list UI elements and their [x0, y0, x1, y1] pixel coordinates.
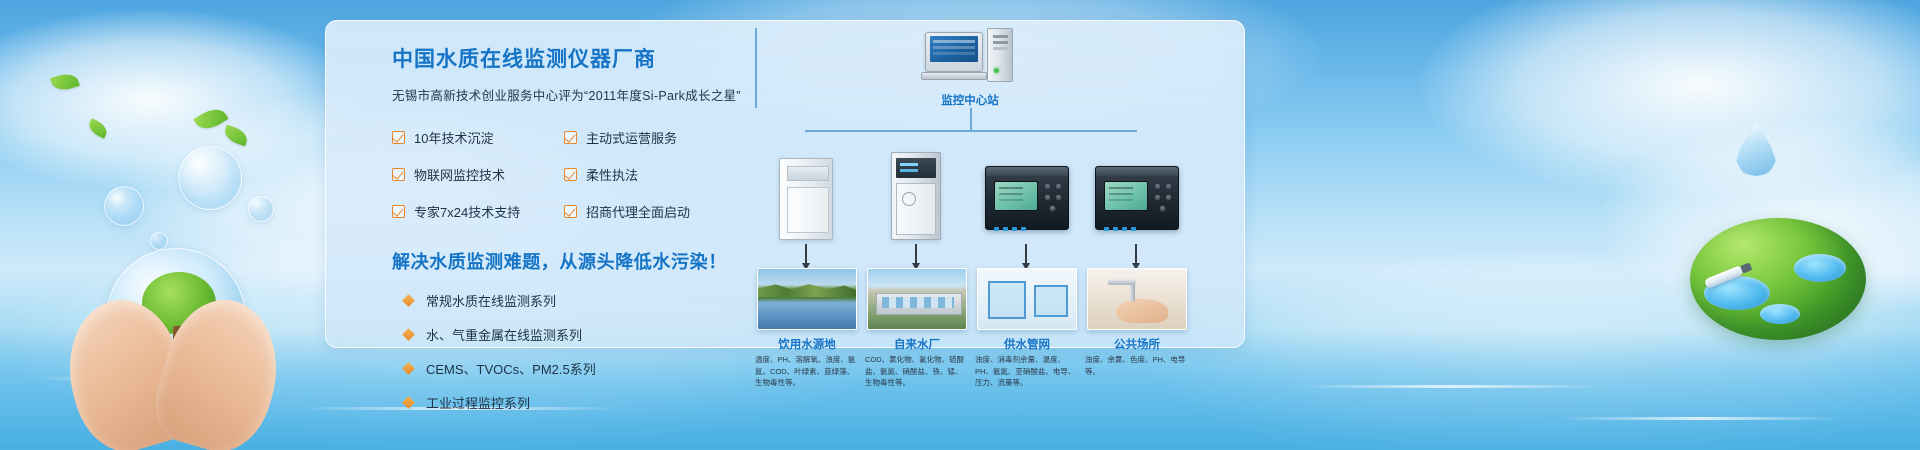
- flow-arrow-icon: [915, 244, 917, 264]
- controller-top-bar: [1096, 167, 1178, 176]
- node-title: 自来水厂: [865, 336, 969, 352]
- checkmark-icon: [564, 168, 577, 181]
- monitoring-center-computer-icon: [925, 28, 1017, 90]
- bubble-decoration: [248, 196, 274, 222]
- scene-photo-public-places: [1087, 268, 1187, 330]
- flow-arrow-icon: [1135, 244, 1137, 264]
- feature-label: 10年技术沉淀: [414, 128, 493, 147]
- connector-bus: [805, 130, 1137, 132]
- product-series-label: 工业过程监控系列: [426, 393, 530, 412]
- checkmark-icon: [392, 168, 405, 181]
- diamond-bullet-icon: [402, 362, 415, 375]
- diamond-bullet-icon: [402, 328, 415, 341]
- earth-lake: [1794, 254, 1846, 282]
- product-series-label: 水、气重金属在线监测系列: [426, 325, 582, 344]
- rack-display: [896, 158, 936, 178]
- device-illustration: [865, 150, 969, 240]
- feature-label: 专家7x24技术支持: [414, 202, 520, 221]
- analyzer-cabinet-icon: [779, 158, 833, 240]
- checkmark-icon: [392, 205, 405, 218]
- feature-item: 主动式运营服务: [564, 128, 772, 147]
- feature-label: 招商代理全面启动: [586, 202, 690, 221]
- diagram-node: 自来水厂 COD、氯化物、氟化物、硫酸盐、氨氮、硝酸盐、铁、锰、生物毒性等。: [865, 150, 969, 240]
- monitor-screen: [930, 36, 978, 62]
- product-series-item: 常规水质在线监测系列: [392, 291, 772, 310]
- product-series-item: CEMS、TVOCs、PM2.5系列: [392, 359, 772, 378]
- diagram-node: 饮用水源地 温度、PH、溶解氧、浊度、氨氮、COD、叶绿素、蓝绿藻、生物毒性等。: [755, 150, 859, 240]
- water-droplet-icon: [1736, 122, 1776, 176]
- center-station-label: 监控中心站: [885, 92, 1055, 108]
- scene-photo-supply-network: [977, 268, 1077, 330]
- water-monitoring-banner: 中国水质在线监测仪器厂商 无锡市高新技术创业服务中心评为“2011年度Si-Pa…: [0, 0, 1920, 450]
- node-title: 公共场所: [1085, 336, 1189, 352]
- system-architecture-diagram: 监控中心站 饮用水源地 温度、PH、溶解氧、浊度、氨氮、COD、叶绿素、蓝绿藻、…: [755, 28, 1185, 418]
- checkmark-icon: [392, 131, 405, 144]
- bubble-decoration: [150, 232, 168, 250]
- page-subtitle: 无锡市高新技术创业服务中心评为“2011年度Si-Park成长之星”: [392, 85, 772, 104]
- checkmark-icon: [564, 205, 577, 218]
- page-title: 中国水质在线监测仪器厂商: [392, 47, 772, 72]
- hand-washing-illustration: [1116, 299, 1168, 323]
- product-series-label: 常规水质在线监测系列: [426, 291, 556, 310]
- feature-item: 招商代理全面启动: [564, 202, 772, 221]
- power-led-indicator: [994, 68, 999, 73]
- controller-led-strip: [994, 218, 1038, 222]
- leaf-icon: [222, 125, 249, 147]
- bubble-decoration: [104, 186, 144, 226]
- feature-item: 物联网监控技术: [392, 165, 564, 184]
- bubble-decoration: [178, 146, 242, 210]
- diamond-bullet-icon: [402, 294, 415, 307]
- node-description: COD、氯化物、氟化物、硫酸盐、氨氮、硝酸盐、铁、锰、生物毒性等。: [865, 354, 969, 389]
- controller-top-bar: [986, 167, 1068, 176]
- controller-led-strip: [1104, 218, 1148, 222]
- connector-drop: [755, 28, 757, 48]
- node-description: 浊度、余氯、色度、PH、电导等。: [1085, 354, 1189, 377]
- computer-tower-icon: [987, 28, 1013, 82]
- cloud-decoration: [0, 10, 360, 190]
- node-description: 浊度、消毒剂余量、温度、PH、氨氮、亚硝酸盐、电导、压力、流量等。: [975, 354, 1079, 389]
- controller-unit-icon: [985, 166, 1069, 230]
- feature-list: 10年技术沉淀 主动式运营服务 物联网监控技术 柔性执法 专家7x24技术支持: [392, 128, 772, 221]
- controller-keypad: [1154, 183, 1174, 217]
- diagram-node: 供水管网 浊度、消毒剂余量、温度、PH、氨氮、亚硝酸盐、电导、压力、流量等。: [975, 150, 1079, 240]
- leaf-icon: [86, 118, 110, 138]
- feature-item: 柔性执法: [564, 165, 772, 184]
- product-series-label: CEMS、TVOCs、PM2.5系列: [426, 359, 596, 378]
- scene-photo-water-plant: [867, 268, 967, 330]
- connector-drop: [755, 68, 757, 88]
- water-streak: [1560, 417, 1840, 420]
- device-illustration: [975, 150, 1079, 240]
- controller-lcd-screen: [1104, 181, 1148, 211]
- connector-drop: [755, 48, 757, 68]
- controller-unit-icon: [1095, 166, 1179, 230]
- controller-keypad: [1044, 183, 1064, 217]
- leaf-icon: [194, 103, 229, 134]
- checkmark-icon: [564, 131, 577, 144]
- monitor-icon: [925, 32, 983, 72]
- device-illustration: [1085, 150, 1189, 240]
- text-column: 中国水质在线监测仪器厂商 无锡市高新技术创业服务中心评为“2011年度Si-Pa…: [392, 47, 772, 427]
- feature-label: 柔性执法: [586, 165, 638, 184]
- keyboard-icon: [921, 72, 987, 80]
- scene-photo-drinking-water-source: [757, 268, 857, 330]
- connector-stem: [970, 108, 972, 130]
- section-title: 解决水质监测难题，从源头降低水污染！: [392, 248, 772, 274]
- leaf-icon: [50, 70, 80, 93]
- device-illustration: [755, 150, 859, 240]
- controller-lcd-screen: [994, 181, 1038, 211]
- diamond-bullet-icon: [402, 396, 415, 409]
- cloud-decoration: [1420, 0, 1920, 200]
- product-series-item: 工业过程监控系列: [392, 393, 772, 412]
- rack-body: [896, 183, 936, 235]
- feature-label: 主动式运营服务: [586, 128, 677, 147]
- diagram-node: 公共场所 浊度、余氯、色度、PH、电导等。: [1085, 150, 1189, 240]
- earth-lake: [1760, 304, 1800, 324]
- feature-item: 专家7x24技术支持: [392, 202, 564, 221]
- node-title: 供水管网: [975, 336, 1079, 352]
- feature-item: 10年技术沉淀: [392, 128, 564, 147]
- flow-arrow-icon: [1025, 244, 1027, 264]
- product-series-list: 常规水质在线监测系列 水、气重金属在线监测系列 CEMS、TVOCs、PM2.5…: [392, 291, 772, 412]
- node-description: 温度、PH、溶解氧、浊度、氨氮、COD、叶绿素、蓝绿藻、生物毒性等。: [755, 354, 859, 389]
- analyzer-rack-icon: [891, 152, 941, 240]
- hands-holding-globe-illustration: [68, 250, 288, 450]
- flow-arrow-icon: [805, 244, 807, 264]
- node-title: 饮用水源地: [755, 336, 859, 352]
- feature-label: 物联网监控技术: [414, 165, 505, 184]
- water-streak: [1300, 385, 1600, 388]
- product-series-item: 水、气重金属在线监测系列: [392, 325, 772, 344]
- connector-drop: [755, 88, 757, 108]
